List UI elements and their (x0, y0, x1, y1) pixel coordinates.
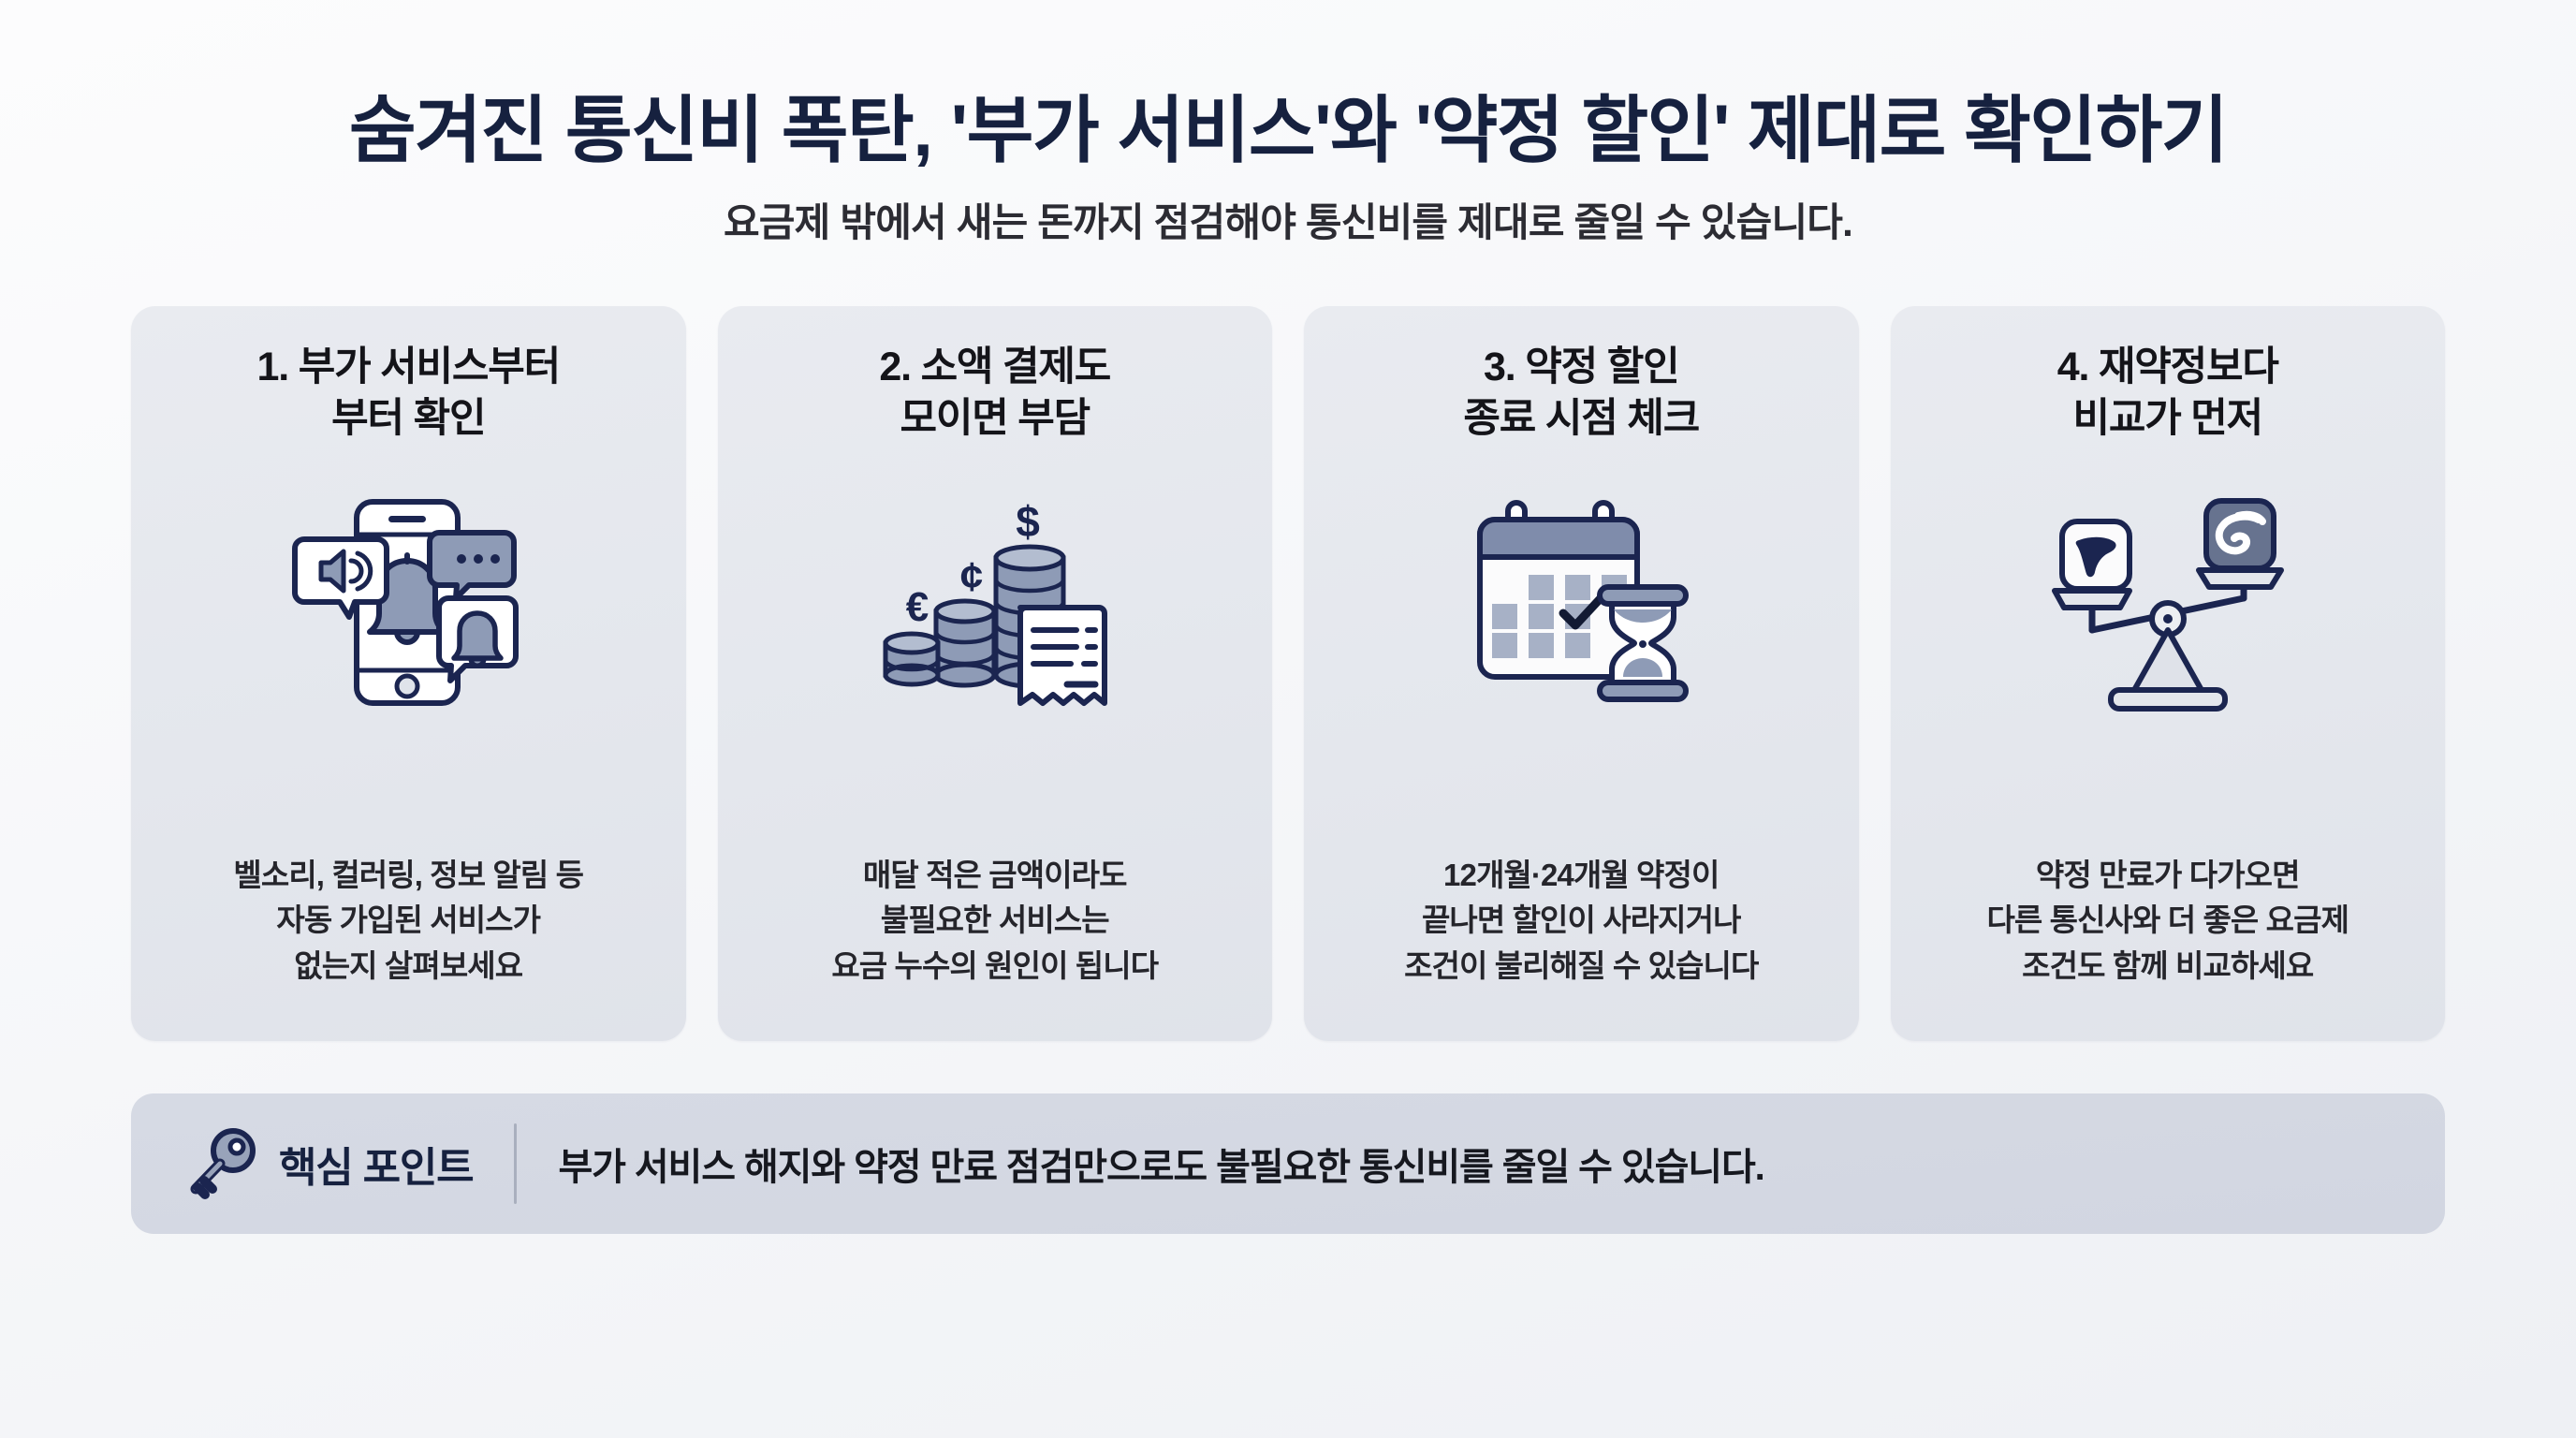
card-body: 12개월·24개월 약정이 끝나면 할인이 사라지거나 조건이 불리해질 수 있… (1404, 853, 1758, 989)
page-title: 숨겨진 통신비 폭탄, '부가 서비스'와 '약정 할인' 제대로 확인하기 (0, 90, 2576, 171)
card-compare-before-renew[interactable]: 4. 재약정보다 비교가 먼저 (1891, 306, 2446, 1041)
key-point-text: 부가 서비스 해지와 약정 만료 점검만으로도 불필요한 통신비를 줄일 수 있… (558, 1137, 1764, 1191)
card-title: 4. 재약정보다 비교가 먼저 (2057, 342, 2278, 445)
balance-scale-icon (2051, 478, 2285, 731)
svg-text:€: € (906, 584, 929, 630)
phone-notifications-icon (291, 478, 525, 731)
card-body: 벨소리, 컬러링, 정보 알림 등 자동 가입된 서비스가 없는지 살펴보세요 (233, 853, 583, 989)
key-icon (182, 1125, 262, 1202)
card-body: 매달 적은 금액이라도 불필요한 서비스는 요금 누수의 원인이 됩니다 (831, 853, 1158, 989)
svg-text:¢: ¢ (960, 554, 983, 600)
card-body: 약정 만료가 다가오면 다른 통신사와 더 좋은 요금제 조건도 함께 비교하세… (1986, 853, 2349, 989)
key-point-banner: 핵심 포인트 부가 서비스 해지와 약정 만료 점검만으로도 불필요한 통신비를… (131, 1093, 2445, 1234)
footer-divider (514, 1123, 517, 1204)
card-additional-services[interactable]: 1. 부가 서비스부터 부터 확인 (131, 306, 686, 1041)
page-subtitle: 요금제 밖에서 새는 돈까지 점검해야 통신비를 제대로 줄일 수 있습니다. (0, 199, 2576, 246)
header: 숨겨진 통신비 폭탄, '부가 서비스'와 '약정 할인' 제대로 확인하기 요… (0, 0, 2576, 247)
card-grid: 1. 부가 서비스부터 부터 확인 (0, 247, 2576, 1041)
card-title: 3. 약정 할인 종료 시점 체크 (1463, 342, 1699, 445)
calendar-hourglass-icon (1464, 478, 1698, 731)
card-micropayments[interactable]: 2. 소액 결제도 모이면 부담 $ ¢ € (718, 306, 1273, 1041)
card-title: 1. 부가 서비스부터 부터 확인 (257, 342, 560, 445)
card-contract-discount-end[interactable]: 3. 약정 할인 종료 시점 체크 (1304, 306, 1859, 1041)
infographic-poster: 숨겨진 통신비 폭탄, '부가 서비스'와 '약정 할인' 제대로 확인하기 요… (0, 0, 2576, 1438)
coin-stacks-receipt-icon: $ ¢ € (878, 478, 1112, 731)
key-point-label: 핵심 포인트 (279, 1134, 473, 1194)
card-title: 2. 소액 결제도 모이면 부담 (879, 342, 1110, 445)
svg-text:$: $ (1016, 497, 1040, 546)
